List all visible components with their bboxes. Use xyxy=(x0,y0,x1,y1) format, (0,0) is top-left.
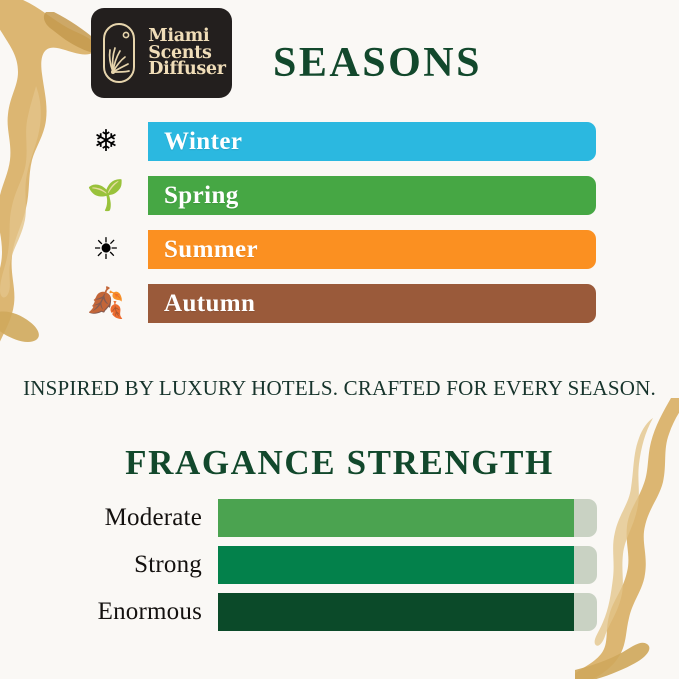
season-row-winter: ❄ Winter xyxy=(0,122,679,161)
season-label-spring: Spring xyxy=(148,182,239,210)
strength-row-enormous: Enormous xyxy=(0,593,679,631)
strength-row-strong: Strong xyxy=(0,546,679,584)
logo-line-3: Diffuser xyxy=(148,61,225,78)
strength-label-moderate: Moderate xyxy=(40,504,202,532)
strength-list: Moderate Strong Enormous xyxy=(0,499,679,640)
strength-label-strong: Strong xyxy=(40,551,202,579)
infographic-page: Miami Scents Diffuser SEASONS ❄ Winter 🌱… xyxy=(0,0,679,679)
sun-icon: ☀ xyxy=(84,235,128,265)
season-label-autumn: Autumn xyxy=(148,290,255,318)
strength-row-moderate: Moderate xyxy=(0,499,679,537)
fragance-strength-title: FRAGANCE STRENGTH xyxy=(0,443,679,483)
logo-line-1: Miami xyxy=(148,28,225,45)
strength-label-enormous: Enormous xyxy=(40,598,202,626)
season-label-summer: Summer xyxy=(148,236,258,264)
strength-fill-strong xyxy=(218,546,574,584)
season-row-summer: ☀ Summer xyxy=(0,230,679,269)
brand-name-text: Miami Scents Diffuser xyxy=(148,28,225,79)
strength-fill-enormous xyxy=(218,593,574,631)
seedling-icon: 🌱 xyxy=(84,181,128,211)
strength-track-moderate xyxy=(218,499,597,537)
brand-logo-badge: Miami Scents Diffuser xyxy=(91,8,232,98)
season-bar-spring: Spring xyxy=(148,176,596,215)
tagline-text: INSPIRED BY LUXURY HOTELS. CRAFTED FOR E… xyxy=(0,376,679,401)
season-label-winter: Winter xyxy=(148,128,242,156)
fallen-leaves-icon: 🍂 xyxy=(84,289,128,319)
season-bar-autumn: Autumn xyxy=(148,284,596,323)
strength-track-strong xyxy=(218,546,597,584)
season-row-autumn: 🍂 Autumn xyxy=(0,284,679,323)
strength-fill-moderate xyxy=(218,499,574,537)
season-bar-summer: Summer xyxy=(148,230,596,269)
snowflake-icon: ❄ xyxy=(84,127,128,157)
diffuser-bottle-icon xyxy=(97,20,141,86)
seasons-list: ❄ Winter 🌱 Spring ☀ Summer 🍂 Autumn xyxy=(0,122,679,338)
season-bar-winter: Winter xyxy=(148,122,596,161)
strength-track-enormous xyxy=(218,593,597,631)
season-row-spring: 🌱 Spring xyxy=(0,176,679,215)
